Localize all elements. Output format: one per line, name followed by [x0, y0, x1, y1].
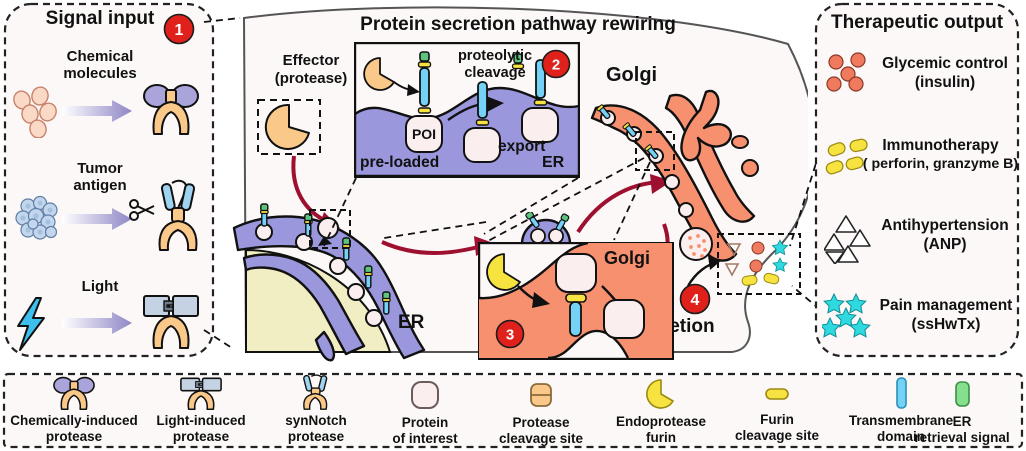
inset-golgi-box: Golgi 3 — [478, 242, 674, 360]
center-panel: Protein secretion pathway rewiring Effec… — [228, 0, 808, 362]
lightning-bolt-icon — [14, 296, 50, 352]
insulin-dots-icon — [824, 52, 876, 96]
input-leaders — [196, 0, 256, 362]
output-row-3-label: Pain management (ssHwTx) — [870, 296, 1022, 334]
output-row-1-label: Immunotherapy ( perforin, granzyme B) — [858, 136, 1023, 174]
inset-golgi-compartment-label: Golgi — [604, 248, 650, 269]
furin-cleavage-site-icon — [763, 382, 791, 406]
tumor-cell-cluster-icon — [12, 194, 64, 246]
legend-item-chemically-induced-protease: Chemically-induced protease — [10, 376, 138, 445]
signal-row-1-arrow-icon — [62, 206, 134, 232]
signal-row-0-label: Chemical molecules — [30, 48, 170, 82]
svg-text:1: 1 — [175, 22, 184, 39]
golgi-label: Golgi — [606, 64, 657, 87]
legend-item-protease-cleavage-site: Protease cleavage site — [482, 380, 600, 447]
legend-item-protein-of-interest: Protein of interest — [372, 380, 478, 447]
er-retrieval-signal-icon — [951, 378, 973, 410]
synnotch-protease-icon — [128, 178, 206, 254]
signal-row-2-arrow-icon — [62, 310, 134, 336]
legend-item-endoprotease-furin: Endoprotease furin — [602, 378, 720, 446]
proteolytic-cleavage-label: proteolytic cleavage — [440, 48, 550, 82]
preloaded-label: pre-loaded — [360, 154, 439, 172]
poi-label: POI — [412, 126, 436, 142]
output-row-0-label: Glycemic control (insulin) — [870, 54, 1020, 92]
legend-item-light-induced-protease: Light-induced protease — [142, 376, 260, 445]
chemically-induced-protease-icon — [140, 80, 202, 140]
therapeutic-output-title: Therapeutic output — [831, 12, 1003, 33]
scissors-icon — [130, 200, 154, 220]
endoprotease-furin-icon — [266, 105, 309, 149]
light-induced-protease-icon — [176, 376, 226, 410]
inset-golgi-leaders — [468, 140, 688, 250]
light-induced-protease-icon — [140, 290, 202, 352]
legend-item-er-retrieval-signal: ER retrieval signal — [904, 378, 1020, 446]
signal-input-title: Signal input — [46, 8, 155, 29]
legend-item-furin-cleavage-site: Furin cleavage site — [720, 382, 834, 444]
effector-protease-callout — [256, 98, 322, 156]
signal-input-panel: Signal input 1 Chemical molecules — [0, 0, 222, 360]
legend-panel: Chemically-induced protease Light-induce… — [2, 372, 1024, 449]
er-label: ER — [398, 312, 424, 334]
chemically-induced-protease-icon — [49, 376, 99, 410]
endoprotease-furin-icon — [644, 378, 678, 410]
chemical-molecules-icon — [8, 86, 66, 138]
exocytosis-arrow — [684, 252, 724, 292]
synnotch-protease-icon — [292, 374, 340, 410]
output-row-2-label: Antihypertension (ANP) — [870, 216, 1020, 254]
therapeutic-output-panel: Therapeutic output Glycemic control (ins… — [812, 0, 1026, 360]
center-panel-title: Protein secretion pathway rewiring — [360, 14, 676, 35]
svg-text:4: 4 — [691, 292, 700, 309]
protein-of-interest-icon — [408, 380, 442, 410]
svg-text:2: 2 — [552, 57, 560, 74]
protease-cleavage-site-icon — [528, 380, 554, 410]
figure-root: Signal input 1 Chemical molecules — [0, 0, 1026, 451]
svg-text:3: 3 — [506, 327, 514, 344]
step-badge-1: 1 — [162, 12, 196, 46]
step-badge-3: 3 — [494, 318, 526, 350]
signal-row-0-arrow-icon — [62, 98, 134, 124]
legend-item-synnotch-protease: synNotch protease — [264, 374, 368, 445]
step-badge-2: 2 — [540, 48, 572, 80]
